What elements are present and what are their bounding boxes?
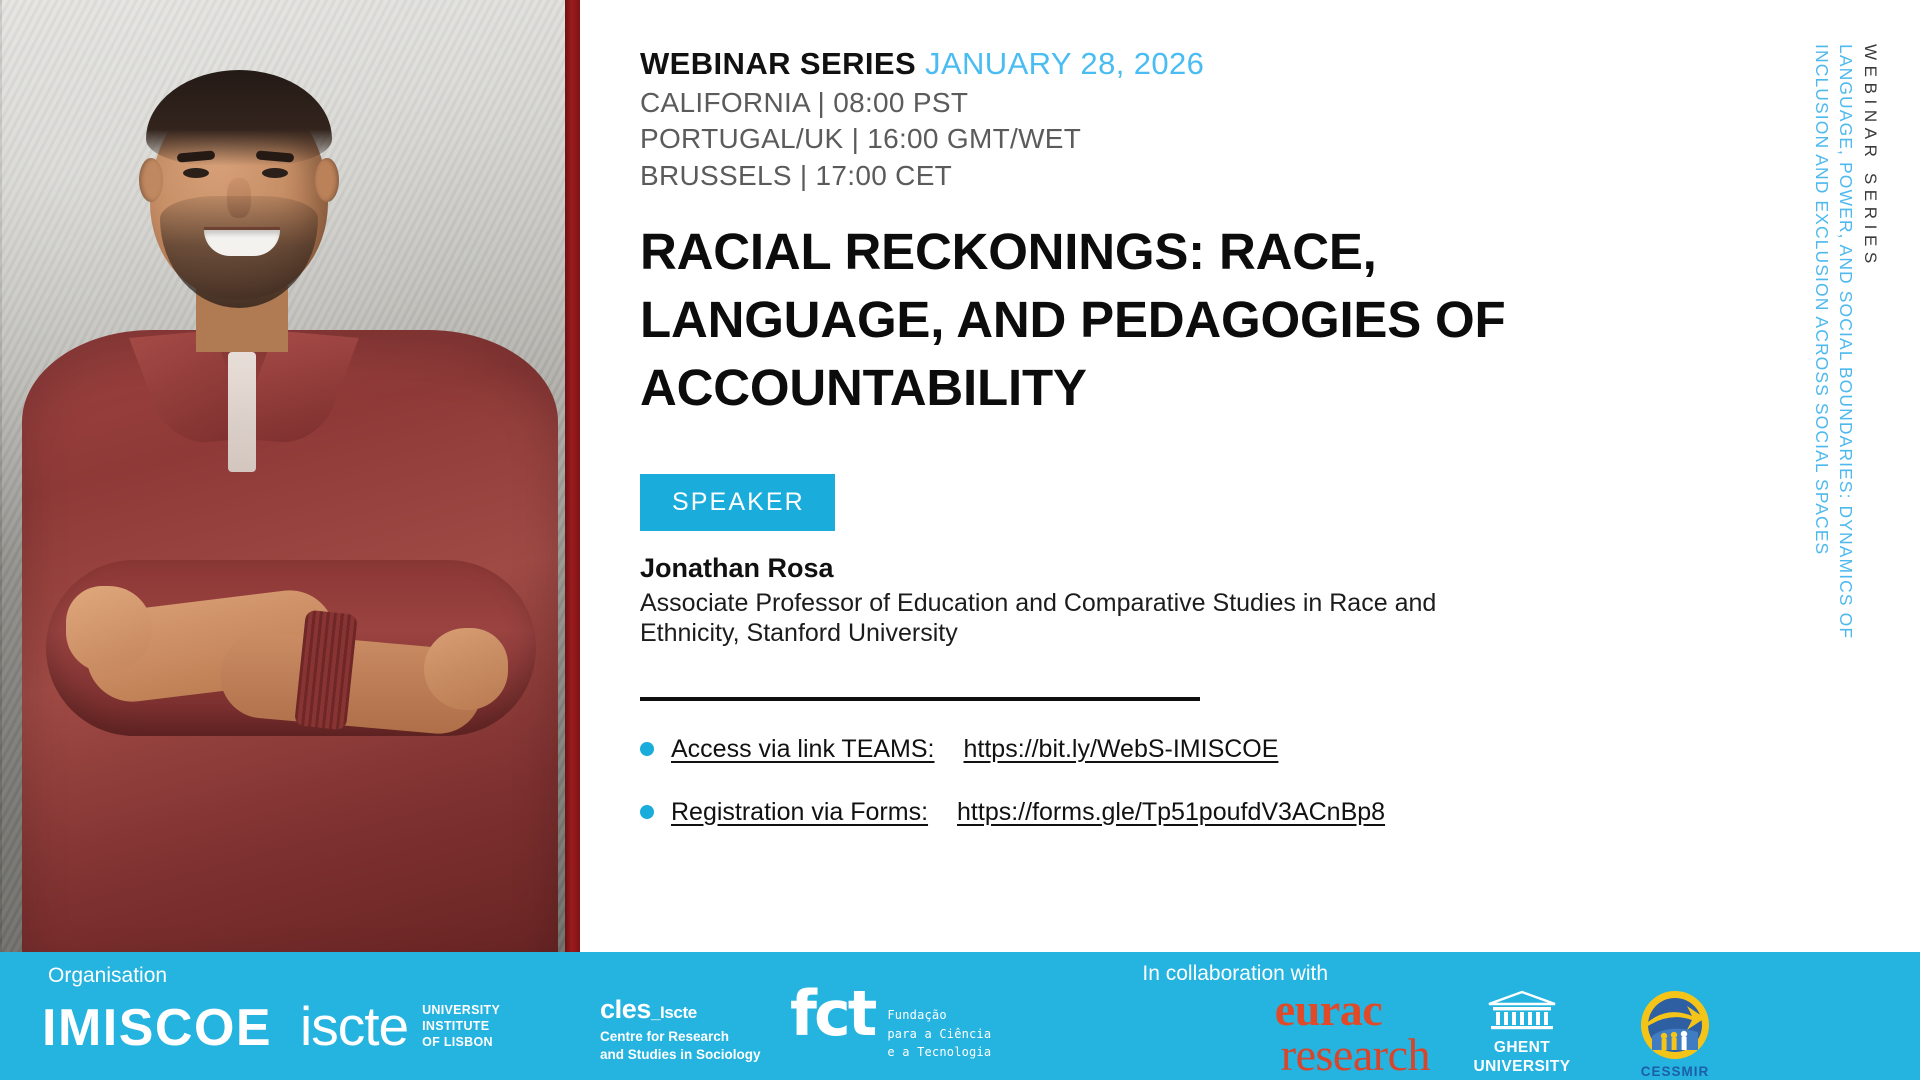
cies-iscte-logo: cIes_Iscte Centre for Research and Studi… xyxy=(600,994,761,1064)
photo-subject xyxy=(0,0,580,952)
iscte-logo: iscte UNIVERSITY INSTITUTE OF LISBON xyxy=(300,994,500,1058)
cessmir-logo: CESSMIR xyxy=(1610,988,1740,1079)
rail-webinar-series-label: WEBINAR SERIES xyxy=(1860,44,1880,269)
vertical-series-rail: WEBINAR SERIES LANGUAGE, POWER, AND SOCI… xyxy=(1760,0,1920,952)
eurac-research-logo: eurac research xyxy=(1275,988,1430,1078)
eurac-research-word: research xyxy=(1281,1032,1430,1078)
imiscoe-logo: IMISCOE xyxy=(42,998,272,1058)
registration-link-row[interactable]: Registration via Forms: https://forms.gl… xyxy=(640,798,1760,827)
fct-logo: fct Fundação para a Ciência e a Tecnolog… xyxy=(790,990,991,1062)
photo-eye-left xyxy=(183,168,209,178)
speaker-photo xyxy=(0,0,580,952)
teams-link-url[interactable]: https://bit.ly/WebS-IMISCOE xyxy=(964,735,1279,764)
timezone-portugal-uk: PORTUGAL/UK | 16:00 GMT/WET xyxy=(640,121,1760,157)
eurac-wordmark: eurac xyxy=(1275,988,1430,1032)
photo-red-stripe xyxy=(565,0,580,952)
speaker-affiliation: Associate Professor of Education and Com… xyxy=(640,588,1450,649)
webinar-title: RACIAL RECKONINGS: RACE, LANGUAGE, AND P… xyxy=(640,218,1680,421)
cies-wordmark: cIes_Iscte xyxy=(600,994,761,1025)
bullet-icon xyxy=(640,805,654,819)
photo-hand-right xyxy=(424,628,508,710)
photo-hair xyxy=(146,70,332,166)
temple-icon xyxy=(1485,990,1559,1030)
organisation-caption: Organisation xyxy=(48,964,167,988)
cies-word-suffix: _Iscte xyxy=(651,1003,697,1022)
cessmir-name: CESSMIR xyxy=(1610,1064,1740,1079)
photo-placket xyxy=(228,352,256,472)
speaker-name: Jonathan Rosa xyxy=(640,553,1760,584)
registration-link-url[interactable]: https://forms.gle/Tp51poufdV3ACnBp8 xyxy=(957,798,1385,827)
photo-hand-left xyxy=(66,586,152,672)
registration-link-label: Registration via Forms: xyxy=(671,798,928,827)
cies-subtitle: Centre for Research and Studies in Socio… xyxy=(600,1028,761,1064)
section-divider xyxy=(640,697,1200,701)
rail-subtitle-line-2: INCLUSION AND EXCLUSION ACROSS SOCIAL SP… xyxy=(1811,44,1832,555)
iscte-subtitle: UNIVERSITY INSTITUTE OF LISBON xyxy=(422,1002,500,1051)
webinar-kicker-line: WEBINAR SERIES JANUARY 28, 2026 xyxy=(640,44,1760,85)
cies-word-main: cIes xyxy=(600,994,651,1024)
fct-subtitle: Fundação para a Ciência e a Tecnologia xyxy=(887,1006,991,1062)
fct-wordmark: fct xyxy=(790,990,874,1038)
speaker-badge: SPEAKER xyxy=(640,474,835,531)
collaboration-caption: In collaboration with xyxy=(1142,962,1328,986)
photo-ear-right xyxy=(315,158,339,202)
main-content: WEBINAR SERIES JANUARY 28, 2026 CALIFORN… xyxy=(580,0,1760,952)
photo-eye-right xyxy=(262,168,288,178)
photo-ear-left xyxy=(139,158,163,202)
bullet-icon xyxy=(640,742,654,756)
ghent-university-logo: GHENT UNIVERSITY xyxy=(1462,990,1582,1077)
ghent-name: GHENT UNIVERSITY xyxy=(1462,1039,1582,1077)
timezone-california: CALIFORNIA | 08:00 PST xyxy=(640,85,1760,121)
teams-link-row[interactable]: Access via link TEAMS: https://bit.ly/We… xyxy=(640,735,1760,764)
webinar-date: JANUARY 28, 2026 xyxy=(925,46,1204,81)
timezone-brussels: BRUSSELS | 17:00 CET xyxy=(640,158,1760,194)
cessmir-globe-icon xyxy=(1638,988,1712,1062)
iscte-wordmark: iscte xyxy=(300,994,408,1058)
rail-subtitle-line-1: LANGUAGE, POWER, AND SOCIAL BOUNDARIES: … xyxy=(1835,44,1856,639)
webinar-series-label: WEBINAR SERIES xyxy=(640,46,916,81)
footer-bar: Organisation In collaboration with IMISC… xyxy=(0,952,1920,1080)
teams-link-label: Access via link TEAMS: xyxy=(671,735,935,764)
